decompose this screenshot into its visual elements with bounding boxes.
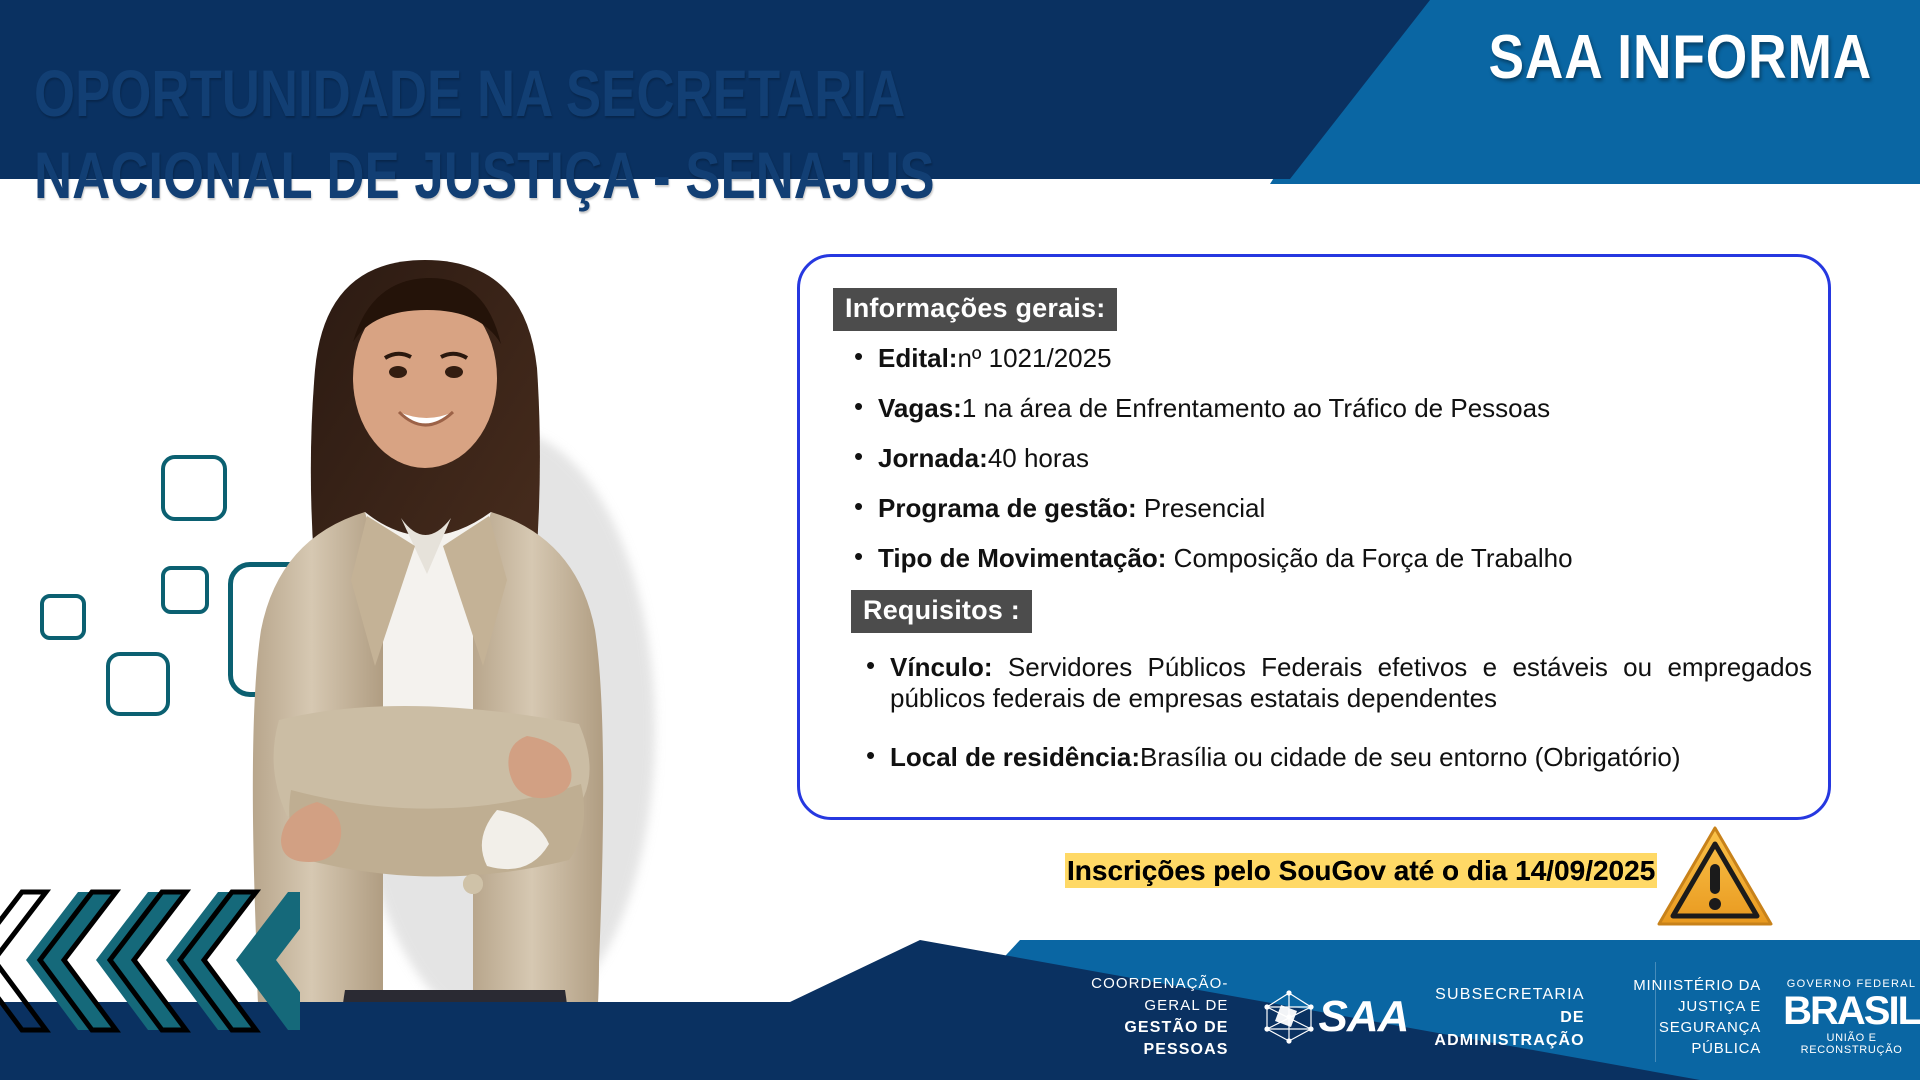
governo-federal-logo: GOVERNO FEDERAL BRASIL UNIÃO E RECONSTRU… [1783, 978, 1920, 1056]
item-label: Edital: [878, 343, 957, 373]
item-value: Composição da Força de Trabalho [1166, 543, 1572, 573]
list-item: Vínculo: Servidores Públicos Federais ef… [862, 652, 1812, 714]
warning-triangle-icon [1655, 822, 1775, 937]
decor-square-icon [106, 652, 170, 716]
saa-wordmark: SAA [1319, 992, 1409, 1042]
page-title: OPORTUNIDADE NA SECRETARIA NACIONAL DE J… [34, 52, 1090, 216]
item-value: Brasília ou cidade de seu entorno (Obrig… [1140, 742, 1681, 772]
list-item: Programa de gestão: Presencial [850, 492, 1750, 524]
informacoes-gerais-list: Edital:nº 1021/2025 Vagas:1 na área de E… [850, 342, 1750, 592]
footer-divider [1655, 962, 1656, 1062]
list-item: Vagas:1 na área de Enfrentamento ao Tráf… [850, 392, 1750, 424]
ministerio-line2: JUSTIÇA E [1625, 996, 1761, 1017]
footer-content: COORDENAÇÃO-GERAL DE GESTÃO DE PESSOAS S… [1060, 962, 1920, 1072]
list-item: Edital:nº 1021/2025 [850, 342, 1750, 374]
decor-square-icon [161, 566, 209, 614]
item-label: Vagas: [878, 393, 962, 423]
chevron-decor-icon [0, 880, 300, 1065]
requisitos-list: Vínculo: Servidores Públicos Federais ef… [862, 652, 1812, 801]
item-value: 1 na área de Enfrentamento ao Tráfico de… [962, 393, 1550, 423]
item-value: Presencial [1137, 493, 1266, 523]
inscricoes-callout: Inscrições pelo SouGov até o dia 14/09/2… [1065, 855, 1657, 887]
item-value: Servidores Públicos Federais efetivos e … [890, 652, 1812, 713]
saa-logo: SAA [1261, 989, 1409, 1045]
decor-square-icon [40, 594, 86, 640]
item-label: Local de residência: [890, 742, 1140, 772]
inscricoes-text: Inscrições pelo SouGov até o dia 14/09/2… [1065, 853, 1657, 888]
item-label: Vínculo: [890, 652, 993, 682]
saa-informa-title: SAA INFORMA [1488, 22, 1872, 93]
coordenacao-line2: GESTÃO DE PESSOAS [1060, 1017, 1229, 1061]
list-item: Tipo de Movimentação: Composição da Forç… [850, 542, 1750, 574]
uniao-reconstrucao-label: UNIÃO E RECONSTRUÇÃO [1783, 1032, 1920, 1056]
item-label: Jornada: [878, 443, 988, 473]
subsecretaria-block: SUBSECRETARIA DE ADMINISTRAÇÃO [1434, 983, 1584, 1052]
poster-canvas: SAA INFORMA OPORTUNIDADE NA SECRETARIA N… [0, 0, 1920, 1080]
list-item: Jornada:40 horas [850, 442, 1750, 474]
brasil-wordmark: BRASIL [1783, 990, 1920, 1032]
section-badge-requisitos: Requisitos : [851, 590, 1032, 633]
list-item: Local de residência:Brasília ou cidade d… [862, 742, 1812, 773]
ministerio-line1: MINIISTÉRIO DA [1625, 975, 1761, 996]
ministerio-line3: SEGURANÇA PÚBLICA [1625, 1017, 1761, 1059]
item-label: Programa de gestão: [878, 493, 1137, 523]
subsecretaria-line1: SUBSECRETARIA [1434, 983, 1584, 1006]
ministerio-block: MINIISTÉRIO DA JUSTIÇA E SEGURANÇA PÚBLI… [1625, 975, 1761, 1059]
item-value: 40 horas [988, 443, 1089, 473]
saa-network-icon [1261, 989, 1317, 1045]
item-label: Tipo de Movimentação: [878, 543, 1166, 573]
subsecretaria-line2: DE ADMINISTRAÇÃO [1434, 1006, 1584, 1052]
coordenacao-line1: COORDENAÇÃO-GERAL DE [1060, 973, 1229, 1017]
section-badge-informacoes-gerais: Informações gerais: [833, 288, 1117, 331]
item-value: nº 1021/2025 [957, 343, 1111, 373]
coordenacao-geral-block: COORDENAÇÃO-GERAL DE GESTÃO DE PESSOAS [1060, 973, 1229, 1061]
